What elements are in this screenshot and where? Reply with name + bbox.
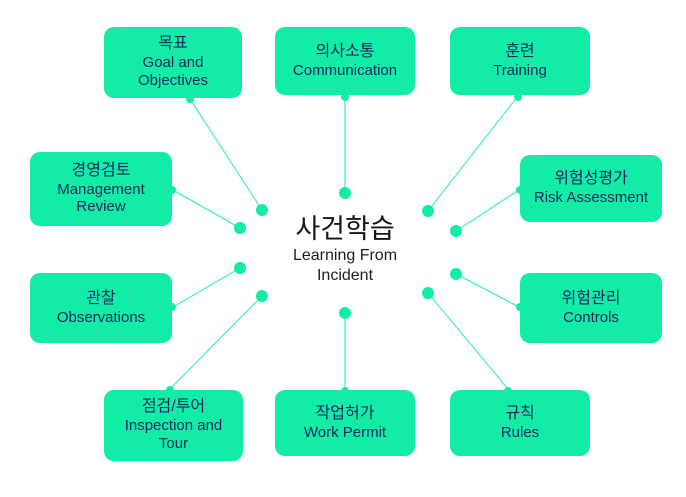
center-title-english-line1: Learning From	[243, 246, 447, 266]
dot-work-permit	[339, 307, 351, 319]
dot-rules	[422, 287, 434, 299]
node-goal-objectives-korean: 목표	[158, 35, 187, 54]
connector-line-risk-assessment	[456, 190, 519, 231]
node-controls[interactable]: 위험관리Controls	[520, 273, 662, 343]
node-rules-english-line1: Rules	[501, 424, 539, 442]
connector-line-training	[428, 96, 518, 211]
node-management-review-korean: 경영검토	[72, 162, 131, 181]
node-training-korean: 훈련	[505, 43, 534, 62]
node-training-english-line1: Training	[493, 62, 547, 80]
node-inspection-tour-english-line2: Tour	[159, 435, 188, 453]
node-risk-assessment-korean: 위험성평가	[554, 170, 628, 189]
node-communication-korean: 의사소통	[316, 43, 375, 62]
node-observations[interactable]: 관찰Observations	[30, 273, 172, 343]
node-goal-objectives[interactable]: 목표Goal andObjectives	[104, 27, 242, 98]
node-work-permit-korean: 작업허가	[316, 405, 375, 424]
node-management-review-english-line1: Management	[57, 181, 145, 199]
node-observations-english-line1: Observations	[57, 309, 145, 327]
node-inspection-tour-english-line1: Inspection and	[125, 417, 223, 435]
node-management-review[interactable]: 경영검토ManagementReview	[30, 152, 172, 226]
dot-inspection-tour	[256, 290, 268, 302]
node-inspection-tour[interactable]: 점검/투어Inspection andTour	[104, 390, 243, 461]
dot-controls	[450, 268, 462, 280]
node-risk-assessment-english-line1: Risk Assessment	[534, 189, 648, 207]
node-controls-english-line1: Controls	[563, 309, 619, 327]
connector-line-goal-objectives	[190, 99, 262, 210]
node-work-permit-english-line1: Work Permit	[304, 424, 386, 442]
node-observations-korean: 관찰	[86, 290, 115, 309]
center-title-korean: 사건학습	[243, 214, 447, 244]
connector-line-observations	[173, 268, 240, 307]
node-rules[interactable]: 규칙Rules	[450, 390, 590, 456]
connector-line-inspection-tour	[170, 296, 262, 389]
node-communication-english-line1: Communication	[293, 62, 397, 80]
node-goal-objectives-english-line2: Objectives	[138, 72, 208, 90]
node-rules-korean: 규칙	[505, 405, 534, 424]
node-controls-korean: 위험관리	[562, 290, 621, 309]
node-communication[interactable]: 의사소통Communication	[275, 27, 415, 95]
node-risk-assessment[interactable]: 위험성평가Risk Assessment	[520, 155, 662, 222]
connector-line-rules	[428, 293, 508, 389]
node-management-review-english-line2: Review	[76, 198, 125, 216]
dot-communication	[339, 187, 351, 199]
node-training[interactable]: 훈련Training	[450, 27, 590, 95]
center-label: 사건학습 Learning From Incident	[243, 214, 447, 286]
center-title-english-line2: Incident	[243, 266, 447, 286]
connector-line-controls	[456, 274, 519, 307]
node-goal-objectives-english-line1: Goal and	[143, 54, 204, 72]
center-title-english: Learning From Incident	[243, 246, 447, 286]
node-work-permit[interactable]: 작업허가Work Permit	[275, 390, 415, 456]
diagram-canvas: 목표Goal andObjectives의사소통Communication훈련T…	[0, 0, 686, 497]
node-inspection-tour-korean: 점검/투어	[142, 398, 205, 417]
connector-line-management-review	[173, 190, 240, 228]
dot-risk-assessment	[450, 225, 462, 237]
